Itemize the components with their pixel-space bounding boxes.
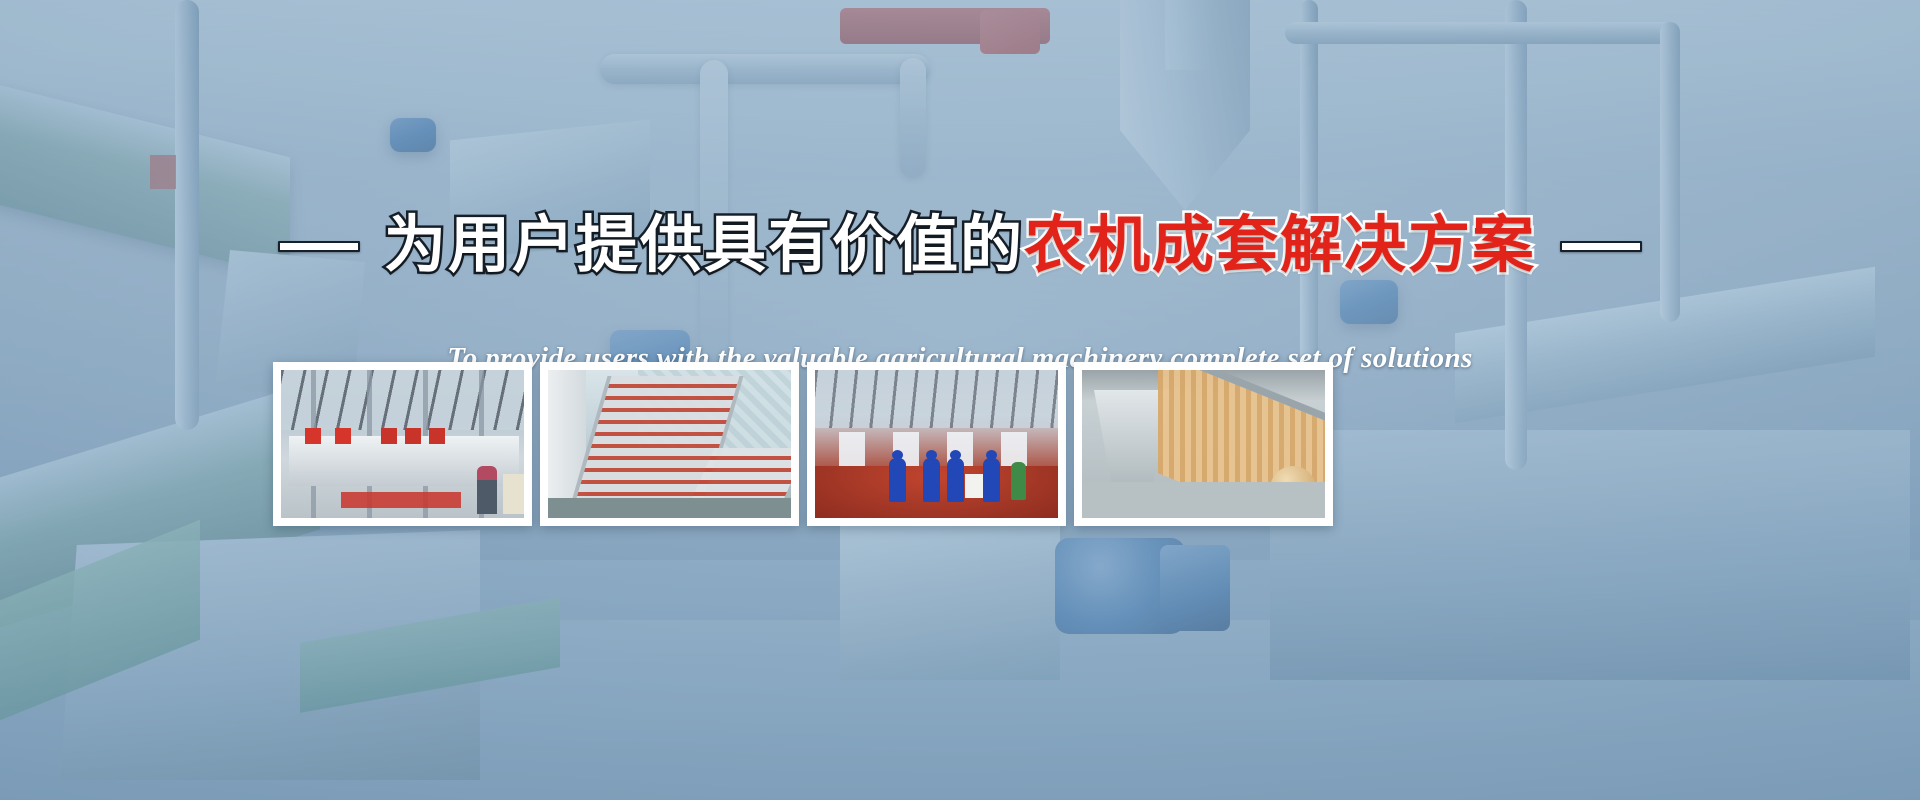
thumbnail-workers-sorting-chilli-heap[interactable] <box>807 362 1066 526</box>
headline-left-dash <box>278 241 360 252</box>
headline-highlight-text: 农机成套解决方案 <box>1024 215 1536 277</box>
headline-text: 为用户提供具有价值的 农机成套解决方案 <box>384 215 1536 277</box>
thumbnail-bucket-elevator-onion-line[interactable] <box>1074 362 1333 526</box>
thumbnail-drying-line-workshop[interactable] <box>273 362 532 526</box>
hero-banner: 为用户提供具有价值的 农机成套解决方案 To provide users wit… <box>0 0 1920 800</box>
headline-primary-text: 为用户提供具有价值的 <box>384 215 1024 277</box>
banner-headline: 为用户提供具有价值的 农机成套解决方案 <box>0 206 1920 286</box>
thumbnail-incline-conveyor-chilli[interactable] <box>540 362 799 526</box>
thumbnail-strip <box>273 362 1333 526</box>
headline-right-dash <box>1560 241 1642 252</box>
